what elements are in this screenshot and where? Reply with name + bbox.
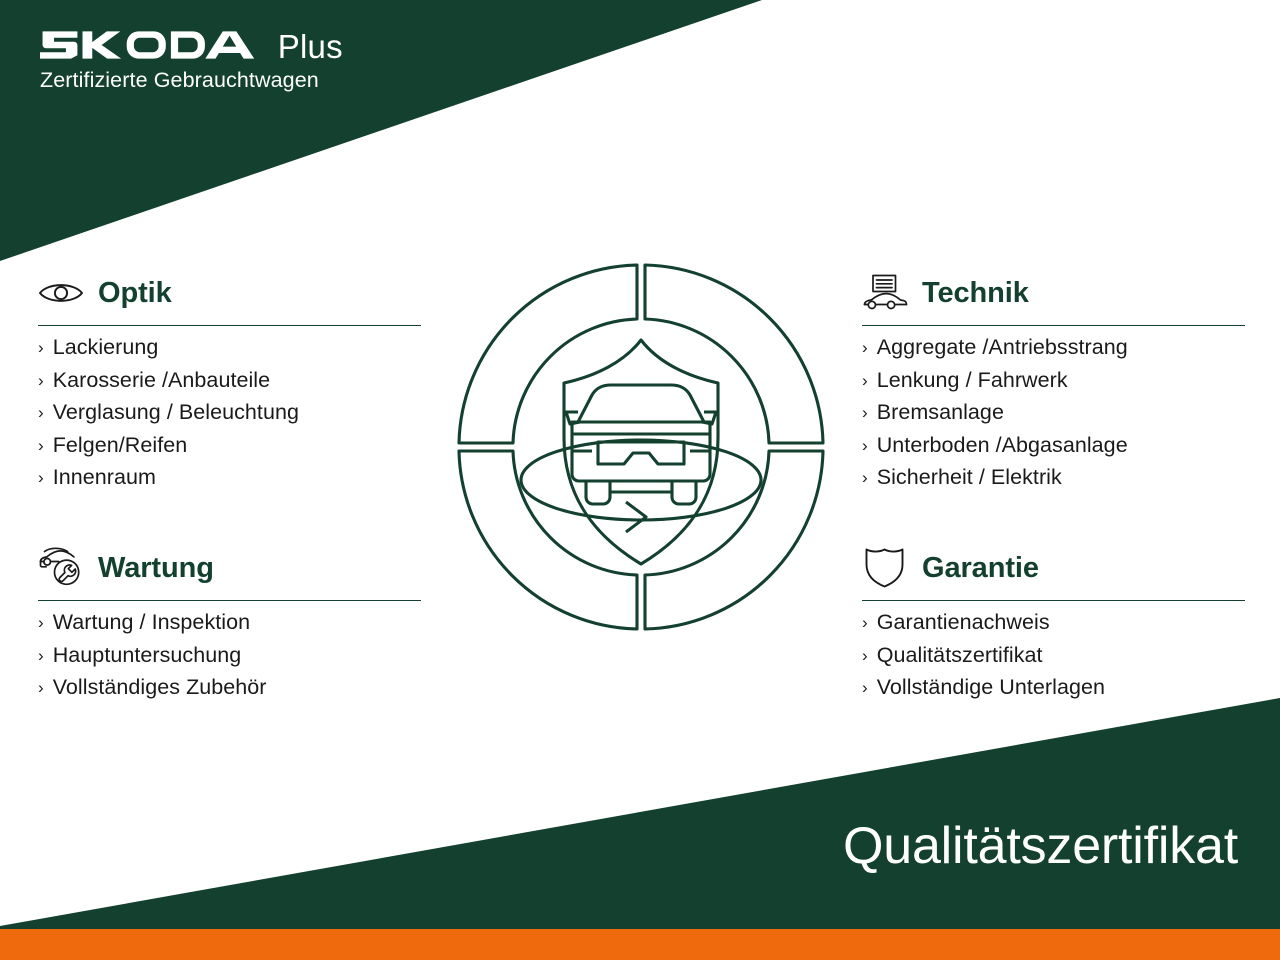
section-title: Wartung	[98, 554, 214, 583]
list-item-label: Innenraum	[53, 462, 156, 494]
certificate-canvas: Plus Zertifizierte Gebrauchtwagen Optik …	[0, 0, 1280, 960]
chevron-right-icon: ›	[38, 397, 44, 429]
list-item-label: Garantienachweis	[877, 607, 1050, 639]
list-item-label: Aggregate /Antriebsstrang	[877, 332, 1128, 364]
section-list: › Wartung / Inspektion › Hauptuntersuchu…	[38, 607, 421, 705]
chevron-right-icon: ›	[38, 640, 44, 672]
list-item: › Aggregate /Antriebsstrang	[862, 332, 1245, 365]
section-title: Optik	[98, 279, 172, 308]
chevron-right-icon: ›	[38, 430, 44, 462]
list-item-label: Wartung / Inspektion	[53, 607, 250, 639]
list-item: › Wartung / Inspektion	[38, 607, 421, 640]
section-header: Wartung	[38, 543, 421, 593]
car-document-icon	[862, 273, 908, 313]
brand-wordmark-row: Plus	[40, 28, 343, 62]
section-optik: Optik › Lackierung › Karosserie /Anbaute…	[38, 268, 421, 495]
skoda-wordmark-icon	[40, 28, 268, 62]
list-item-label: Sicherheit / Elektrik	[877, 462, 1062, 494]
list-item-label: Karosserie /Anbauteile	[53, 365, 270, 397]
list-item: › Karosserie /Anbauteile	[38, 365, 421, 398]
chevron-right-icon: ›	[862, 397, 868, 429]
section-title: Technik	[922, 279, 1029, 308]
list-item: › Vollständiges Zubehör	[38, 672, 421, 705]
section-header: Optik	[38, 268, 421, 318]
orange-footer-bar	[0, 929, 1280, 960]
list-item: › Garantienachweis	[862, 607, 1245, 640]
list-item: › Bremsanlage	[862, 397, 1245, 430]
chevron-right-icon: ›	[38, 365, 44, 397]
orbit-arrow-icon	[626, 502, 646, 532]
section-divider	[862, 600, 1245, 601]
section-wartung: Wartung › Wartung / Inspektion › Hauptun…	[38, 543, 421, 705]
list-item-label: Vollständige Unterlagen	[877, 672, 1105, 704]
section-technik: Technik › Aggregate /Antriebsstrang › Le…	[862, 268, 1245, 495]
chevron-right-icon: ›	[38, 607, 44, 639]
chevron-right-icon: ›	[862, 640, 868, 672]
section-divider	[38, 325, 421, 326]
brand-plus-label: Plus	[278, 30, 343, 63]
list-item-label: Felgen/Reifen	[53, 430, 188, 462]
section-garantie: Garantie › Garantienachweis › Qualitätsz…	[862, 543, 1245, 705]
section-list: › Garantienachweis › Qualitätszertifikat…	[862, 607, 1245, 705]
list-item: › Qualitätszertifikat	[862, 640, 1245, 673]
eye-icon	[38, 273, 84, 313]
chevron-right-icon: ›	[862, 607, 868, 639]
chevron-right-icon: ›	[38, 672, 44, 704]
chevron-right-icon: ›	[862, 365, 868, 397]
ring-segment-top-right	[645, 265, 823, 443]
list-item: › Innenraum	[38, 462, 421, 495]
chevron-right-icon: ›	[38, 462, 44, 494]
list-item-label: Hauptuntersuchung	[53, 640, 242, 672]
section-divider	[38, 600, 421, 601]
section-header: Garantie	[862, 543, 1245, 593]
list-item: › Unterboden /Abgasanlage	[862, 430, 1245, 463]
brand-subtitle: Zertifizierte Gebrauchtwagen	[40, 68, 343, 92]
car-wrench-icon	[38, 548, 84, 588]
list-item: › Felgen/Reifen	[38, 430, 421, 463]
section-header: Technik	[862, 268, 1245, 318]
certified-vehicle-emblem	[446, 252, 836, 642]
chevron-right-icon: ›	[38, 332, 44, 364]
list-item: › Vollständige Unterlagen	[862, 672, 1245, 705]
ring-segment-top-left	[459, 265, 637, 443]
shield-icon	[862, 548, 908, 588]
section-list: › Lackierung › Karosserie /Anbauteile › …	[38, 332, 421, 495]
section-divider	[862, 325, 1245, 326]
list-item: › Lenkung / Fahrwerk	[862, 365, 1245, 398]
list-item-label: Lackierung	[53, 332, 159, 364]
list-item-label: Bremsanlage	[877, 397, 1004, 429]
list-item-label: Verglasung / Beleuchtung	[53, 397, 299, 429]
certificate-title: Qualitätszertifikat	[843, 820, 1238, 872]
section-title: Garantie	[922, 554, 1039, 583]
list-item: › Lackierung	[38, 332, 421, 365]
list-item-label: Qualitätszertifikat	[877, 640, 1043, 672]
section-list: › Aggregate /Antriebsstrang › Lenkung / …	[862, 332, 1245, 495]
list-item-label: Unterboden /Abgasanlage	[877, 430, 1128, 462]
list-item: › Sicherheit / Elektrik	[862, 462, 1245, 495]
chevron-right-icon: ›	[862, 332, 868, 364]
list-item-label: Vollständiges Zubehör	[53, 672, 267, 704]
chevron-right-icon: ›	[862, 430, 868, 462]
list-item: › Hauptuntersuchung	[38, 640, 421, 673]
list-item-label: Lenkung / Fahrwerk	[877, 365, 1068, 397]
chevron-right-icon: ›	[862, 672, 868, 704]
chevron-right-icon: ›	[862, 462, 868, 494]
brand-lockup: Plus Zertifizierte Gebrauchtwagen	[40, 28, 343, 92]
list-item: › Verglasung / Beleuchtung	[38, 397, 421, 430]
